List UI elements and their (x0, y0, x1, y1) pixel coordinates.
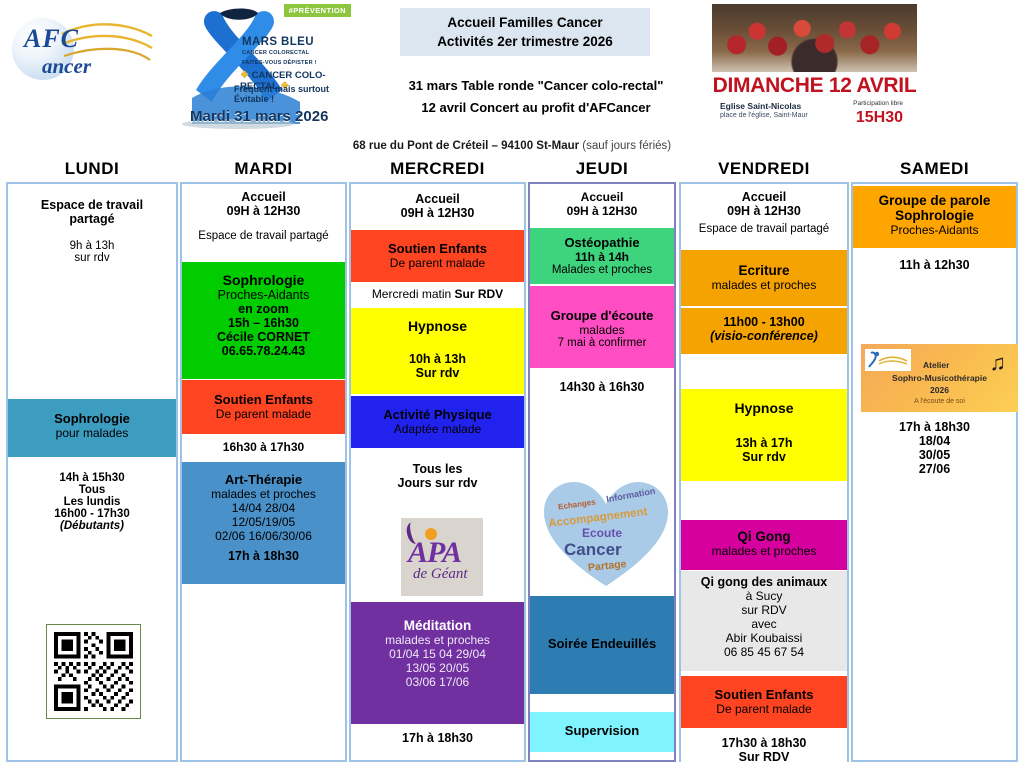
jeudi-block-supervision[interactable]: Supervision (530, 712, 674, 752)
samedi-dates-l4: 27/06 (855, 462, 1014, 476)
vendredi-block-hypnose[interactable]: Hypnose 13h à 17h Sur rdv (681, 389, 847, 481)
mardi-time1: 16h30 à 17h30 (184, 435, 343, 454)
address-note: (sauf jours fériés) (579, 140, 671, 152)
concert-venue-address: place de l'église, Saint-Maur (720, 112, 808, 119)
lundi-espace-title2: partagé (10, 212, 174, 226)
mardi-sophro-phone: 06.65.78.24.43 (184, 344, 343, 358)
ribbon-glyph-left: ❖ (240, 70, 249, 81)
heart-word-ecoute: Ecoute (582, 526, 622, 540)
poster-title-box: Accueil Familles Cancer Activités 2er tr… (400, 8, 650, 56)
logo-word: ancer (42, 54, 91, 79)
day-column-lundi: LUNDI Espace de travail partagé 9h à 13h… (6, 156, 178, 768)
vendredi-hypnose-title: Hypnose (683, 389, 845, 416)
apa-de-geant-logo: APA de Géant (401, 518, 483, 596)
mardi-soutien-sub: De parent malade (184, 407, 343, 421)
samedi-gp-sub: Proches-Aidants (855, 223, 1014, 237)
mardi-block-sophrologie[interactable]: Sophrologie Proches-Aidants en zoom 15h … (182, 262, 345, 379)
mars-bleu-sub1: CANCER COLORECTAL (242, 50, 309, 56)
mercredi-time-end: 17h à 18h30 (353, 727, 522, 745)
mardi-art-title: Art-Thérapie (184, 462, 343, 487)
mercredi-block-meditation[interactable]: Méditation malades et proches 01/04 15 0… (351, 602, 524, 724)
day-header-lundi: LUNDI (6, 156, 178, 182)
samedi-gp-title: Groupe de parole (855, 186, 1014, 208)
vendredi-visio-note: (visio-conférence) (683, 329, 845, 343)
mardi-art-l1: malades et proches (184, 487, 343, 501)
samedi-block-groupe-parole[interactable]: Groupe de parole Sophrologie Proches-Aid… (853, 186, 1016, 248)
mardi-sophro-title: Sophrologie (184, 262, 343, 288)
samedi-dates-l3: 30/05 (855, 448, 1014, 462)
vendredi-block-visio[interactable]: 11h00 - 13h00 (visio-conférence) (681, 308, 847, 354)
week-grid: LUNDI Espace de travail partagé 9h à 13h… (0, 156, 1024, 768)
mardi-block-art-therapie[interactable]: Art-Thérapie malades et proches 14/04 28… (182, 462, 345, 584)
concert-venue: Eglise Saint-Nicolas (720, 101, 801, 111)
day-header-mercredi: MERCREDI (349, 156, 526, 182)
mardi-sophro-l2: en zoom (184, 302, 343, 316)
lundi-espace-time: 9h à 13h (10, 226, 174, 252)
vendredi-block-soutien-enfants[interactable]: Soutien Enfants De parent malade (681, 676, 847, 728)
vendredi-qigong-title: Qi Gong (683, 520, 845, 544)
mardi-art-time: 17h à 18h30 (184, 543, 343, 563)
vendredi-visio-time: 11h00 - 13h00 (683, 308, 845, 329)
jeudi-soiree-title: Soirée Endeuillés (532, 596, 672, 651)
vendredi-block-time-end[interactable]: 17h30 à 18h30 Sur RDV (681, 730, 847, 768)
mardi-art-l4: 02/06 16/06/30/06 (184, 529, 343, 543)
event-line-2: 12 avril Concert au profit d'AFCancer (366, 100, 706, 115)
vendredi-qga-title: Qi gong des animaux (683, 571, 845, 589)
lundi-block-sophrologie[interactable]: Sophrologie pour malades (8, 399, 176, 457)
mars-bleu-title: MARS BLEU (242, 36, 314, 48)
venue-address-line: 68 rue du Pont de Créteil – 94100 St-Mau… (0, 140, 1024, 152)
mardi-accueil-sub: Espace de travail partagé (184, 218, 343, 242)
mars-bleu-banner: #PRÉVENTION MARS BLEU CANCER COLORECTAL … (168, 2, 353, 134)
mercredi-block-tous-les-jours[interactable]: Tous les Jours sur rdv (351, 454, 524, 510)
mercredi-medit-l1: malades et proches (353, 633, 522, 647)
day-header-samedi: SAMEDI (851, 156, 1018, 182)
choir-photo (712, 4, 917, 72)
lundi-h-l5: (Débutants) (10, 520, 174, 532)
samedi-block-dates[interactable]: 17h à 18h30 18/04 30/05 27/06 (853, 416, 1016, 494)
mercredi-tlj-l1: Tous les (353, 454, 522, 476)
mardi-block-accueil[interactable]: Accueil 09H à 12H30 Espace de travail pa… (182, 184, 345, 260)
mercredi-block-hypnose[interactable]: Hypnose 10h à 13h Sur rdv (351, 308, 524, 394)
musico-l1: Atelier (923, 360, 949, 370)
vendredi-qga-phone: 06 85 45 67 54 (683, 645, 845, 659)
mercredi-rdv-note: Mercredi matin Sur RDV (353, 283, 522, 301)
mercredi-tlj-l2: Jours sur rdv (353, 476, 522, 490)
lundi-espace-title: Espace de travail (10, 188, 174, 212)
mercredi-ap-sub: Adaptée malade (353, 422, 522, 436)
day-body-lundi: Espace de travail partagé 9h à 13h sur r… (6, 182, 178, 762)
vendredi-hypnose-time: 13h à 17h (683, 416, 845, 450)
vendredi-qga-l1: à Sucy (683, 589, 845, 603)
jeudi-osteo-time: 11h à 14h (532, 250, 672, 264)
day-body-vendredi: Accueil 09H à 12H30 Espace de travail pa… (679, 182, 849, 762)
vendredi-block-accueil[interactable]: Accueil 09H à 12H30 Espace de travail pa… (681, 184, 847, 250)
address-main: 68 rue du Pont de Créteil – 94100 St-Mau… (353, 140, 579, 152)
vendredi-soutien-sub: De parent malade (683, 702, 845, 716)
event-line-1: 31 mars Table ronde "Cancer colo-rectal" (366, 78, 706, 93)
jeudi-ecoute-l2: 7 mai à confirmer (532, 337, 672, 349)
mercredi-medit-l2: 01/04 15 04 29/04 (353, 647, 522, 661)
apa-letters: APA (408, 536, 461, 570)
poster-title-line2: Activités 2er trimestre 2026 (437, 32, 613, 51)
musico-l3: 2026 (861, 385, 1018, 395)
mardi-block-time1[interactable]: 16h30 à 17h30 (182, 435, 345, 461)
mercredi-block-rdv-note[interactable]: Mercredi matin Sur RDV (351, 283, 524, 307)
heart-word-cancer: Cancer (564, 540, 622, 560)
vendredi-hypnose-note: Sur rdv (683, 450, 845, 464)
mercredi-soutien-title: Soutien Enfants (353, 230, 522, 256)
vendredi-qga-l4: Abir Koubaissi (683, 631, 845, 645)
jeudi-time: 14h30 à 16h30 (532, 370, 672, 394)
mardi-block-soutien-enfants[interactable]: Soutien Enfants De parent malade (182, 380, 345, 434)
vendredi-qga-l3: avec (683, 617, 845, 631)
mercredi-medit-l4: 03/06 17/06 (353, 675, 522, 689)
day-column-vendredi: VENDREDI Accueil 09H à 12H30 Espace de t… (679, 156, 849, 768)
poster-page: AFC ancer #PRÉVENTION MARS BLEU CANCER C… (0, 0, 1024, 768)
vendredi-accueil-sub: Espace de travail partagé (683, 218, 845, 235)
musico-mini-logo (865, 349, 911, 371)
day-header-jeudi: JEUDI (528, 156, 676, 182)
musico-l2: Sophro-Musicothérapie (861, 373, 1018, 383)
prevention-tag: #PRÉVENTION (284, 4, 351, 17)
lundi-h-l1: 14h à 15h30 (10, 462, 174, 484)
musico-l4: A l'écoute de soi (861, 398, 1018, 405)
lundi-h-l4: 16h00 - 17h30 (10, 508, 174, 520)
vendredi-ecriture-sub: malades et proches (683, 278, 845, 292)
day-body-jeudi: Accueil 09H à 12H30 Ostéopathie 11h à 14… (528, 182, 676, 762)
vendredi-ecriture-title: Ecriture (683, 250, 845, 278)
mardi-sophro-l3: 15h – 16h30 (184, 316, 343, 330)
vendredi-qigong-sub: malades et proches (683, 544, 845, 558)
jeudi-block-time[interactable]: 14h30 à 16h30 (530, 370, 674, 404)
sophro-mini-icon (865, 349, 911, 371)
poster-header: AFC ancer #PRÉVENTION MARS BLEU CANCER C… (0, 0, 1024, 138)
day-header-vendredi: VENDREDI (679, 156, 849, 182)
vendredi-accueil-time: 09H à 12H30 (683, 204, 845, 218)
logo-initials: AFC (24, 24, 79, 54)
apa-geant-text: de Géant (413, 566, 468, 583)
day-column-jeudi: JEUDI Accueil 09H à 12H30 Ostéopathie 11… (528, 156, 676, 768)
mercredi-medit-title: Méditation (353, 602, 522, 633)
jeudi-ecoute-title: Groupe d'écoute (532, 286, 672, 323)
jeudi-block-groupe-ecoute[interactable]: Groupe d'écoute malades 7 mai à confirme… (530, 286, 674, 368)
samedi-gp-title2: Sophrologie (855, 208, 1014, 223)
lundi-block-espace[interactable]: Espace de travail partagé 9h à 13h sur r… (8, 188, 176, 396)
vendredi-block-ecriture[interactable]: Ecriture malades et proches (681, 250, 847, 306)
concert-date: DIMANCHE 12 AVRIL (712, 74, 917, 98)
afcancer-logo: AFC ancer (8, 10, 158, 95)
vendredi-block-qi-gong[interactable]: Qi Gong malades et proches (681, 520, 847, 570)
mardi-art-l3: 12/05/19/05 (184, 515, 343, 529)
qr-code-icon (54, 632, 133, 711)
jeudi-block-soiree-endeuilles[interactable]: Soirée Endeuillés (530, 596, 674, 694)
vendredi-time-l1: 17h30 à 18h30 (683, 730, 845, 750)
mercredi-rdv-bold: Sur RDV (455, 287, 504, 301)
vendredi-qga-l2: sur RDV (683, 603, 845, 617)
vendredi-accueil-title: Accueil (683, 184, 845, 204)
day-column-mercredi: MERCREDI Accueil 09H à 12H30 Soutien Enf… (349, 156, 526, 768)
day-header-mardi: MARDI (180, 156, 347, 182)
lundi-espace-note: sur rdv (10, 252, 174, 264)
concert-participation: Participation libre (853, 100, 903, 107)
mardi-accueil-time: 09H à 12H30 (184, 204, 343, 218)
mercredi-hypnose-time: 10h à 13h (353, 334, 522, 366)
vendredi-time-l2: Sur RDV (683, 750, 845, 764)
samedi-block-atelier-musicotherapie[interactable]: ♫ Atelier Sophro-Musicothérapie 2026 A l… (861, 344, 1018, 412)
mars-bleu-line2: Fréquent mais surtout Évitable ! (234, 84, 353, 104)
day-column-mardi: MARDI Accueil 09H à 12H30 Espace de trav… (180, 156, 347, 768)
day-body-mardi: Accueil 09H à 12H30 Espace de travail pa… (180, 182, 347, 762)
mercredi-hypnose-note: Sur rdv (353, 366, 522, 380)
lundi-block-horaires[interactable]: 14h à 15h30 Tous Les lundis 16h00 - 17h3… (8, 462, 176, 562)
poster-title-line1: Accueil Familles Cancer (447, 13, 602, 32)
concert-time: 15H30 (856, 109, 903, 127)
jeudi-accueil-title: Accueil (532, 184, 672, 204)
mars-bleu-sub2: FAITES-VOUS DÉPISTER ! (242, 60, 317, 66)
mercredi-hypnose-title: Hypnose (353, 308, 522, 334)
samedi-dates-l2: 18/04 (855, 434, 1014, 448)
mercredi-medit-l3: 13/05 20/05 (353, 661, 522, 675)
cancer-heart-graphic: Echanges Information Accompagnement Ecou… (536, 474, 676, 592)
samedi-dates-l1: 17h à 18h30 (855, 416, 1014, 434)
qr-code[interactable] (46, 624, 141, 719)
lundi-sophro-sub: pour malades (10, 426, 174, 440)
mercredi-accueil-title: Accueil (353, 184, 522, 206)
mardi-sophro-l1: Proches-Aidants (184, 288, 343, 302)
jeudi-block-osteopathie[interactable]: Ostéopathie 11h à 14h Malades et proches (530, 228, 674, 284)
jeudi-accueil-time: 09H à 12H30 (532, 204, 672, 218)
concert-poster: DIMANCHE 12 AVRIL Eglise Saint-Nicolas p… (712, 4, 917, 132)
jeudi-ecoute-l1: malades (532, 323, 672, 337)
mardi-art-l2: 14/04 28/04 (184, 501, 343, 515)
vendredi-block-qi-gong-animaux[interactable]: Qi gong des animaux à Sucy sur RDV avec … (681, 571, 847, 671)
mardi-sophro-contact: Cécile CORNET (184, 330, 343, 344)
jeudi-osteo-title: Ostéopathie (532, 228, 672, 250)
day-column-samedi: SAMEDI Groupe de parole Sophrologie Proc… (851, 156, 1018, 768)
mars-bleu-date: Mardi 31 mars 2026 (190, 108, 328, 125)
mardi-accueil-title: Accueil (184, 184, 343, 204)
mercredi-block-activite-physique[interactable]: Activité Physique Adaptée malade (351, 396, 524, 448)
lundi-sophro-title: Sophrologie (10, 399, 174, 426)
mercredi-block-soutien-enfants[interactable]: Soutien Enfants De parent malade (351, 230, 524, 282)
jeudi-block-accueil[interactable]: Accueil 09H à 12H30 (530, 184, 674, 226)
jeudi-osteo-sub: Malades et proches (532, 264, 672, 276)
day-body-samedi: Groupe de parole Sophrologie Proches-Aid… (851, 182, 1018, 762)
mercredi-soutien-sub: De parent malade (353, 256, 522, 270)
lundi-h-l2: Tous (10, 484, 174, 496)
samedi-block-time1[interactable]: 11h à 12h30 (853, 254, 1016, 282)
lundi-h-l3: Les lundis (10, 496, 174, 508)
mardi-soutien-title: Soutien Enfants (184, 380, 343, 407)
day-body-mercredi: Accueil 09H à 12H30 Soutien Enfants De p… (349, 182, 526, 762)
mercredi-block-time-end[interactable]: 17h à 18h30 (351, 727, 524, 753)
mercredi-accueil-time: 09H à 12H30 (353, 206, 522, 220)
samedi-time1: 11h à 12h30 (855, 254, 1014, 272)
jeudi-supervision-title: Supervision (532, 712, 672, 738)
mercredi-block-accueil[interactable]: Accueil 09H à 12H30 (351, 184, 524, 228)
vendredi-soutien-title: Soutien Enfants (683, 676, 845, 702)
mercredi-rdv-plain: Mercredi matin (372, 287, 455, 301)
mercredi-ap-title: Activité Physique (353, 396, 522, 422)
